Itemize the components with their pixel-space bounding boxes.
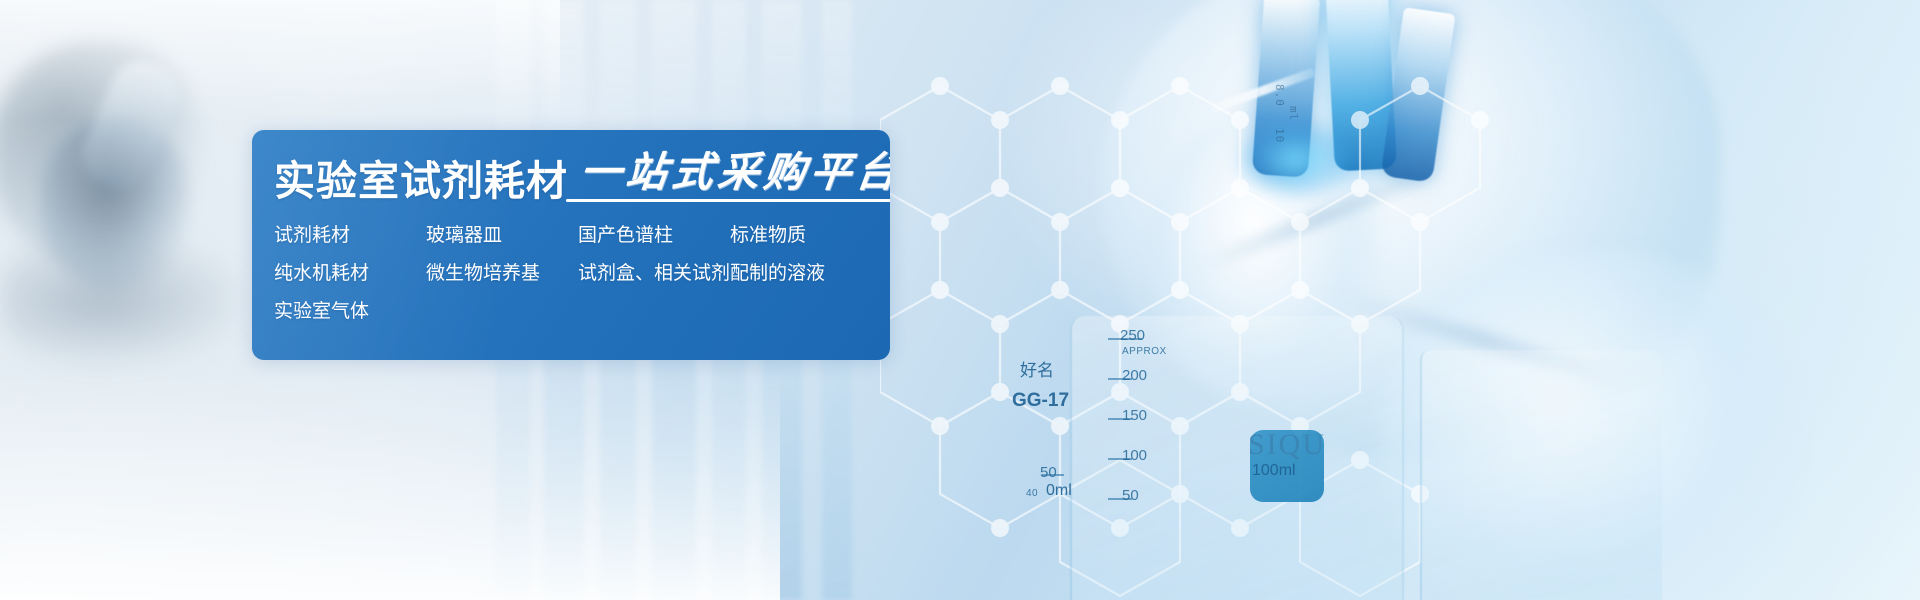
graduation-label: 50 [1040,464,1057,481]
graduation-label: 150 [1122,407,1147,424]
graduation-label-approx: APPROX [1122,346,1167,357]
headline-brush-text: 一站式采购平台 [577,152,890,193]
category-link-microbial-culture-medium[interactable]: 微生物培养基 [426,264,578,285]
graduation-label: 100 [1122,447,1147,464]
secondary-beaker-shape [1420,350,1662,600]
flask-capacity-label: 100ml [1252,462,1296,480]
background-highlight-wash [0,370,780,600]
category-link-row: 纯水机耗材 微生物培养基 试剂盒、相关试剂配制的溶液 [274,264,870,285]
headline-bold-text: 实验室试剂耗材 [274,161,568,202]
headline-brush-wrapper: 一站式采购平台 [580,152,890,202]
category-link-row: 试剂耗材 玻璃器皿 国产色谱柱 标准物质 [274,226,870,247]
category-link-row: 实验室气体 [274,302,870,323]
glassware-brand-label: 好名 [1020,356,1054,381]
headline-underline [566,199,890,202]
category-link-reagent-kit-solutions[interactable]: 试剂盒、相关试剂配制的溶液 [578,264,825,285]
category-link-water-purifier-consumables[interactable]: 纯水机耗材 [274,264,426,285]
beaker-brand-label: SIQU [1248,428,1326,462]
category-link-glassware[interactable]: 玻璃器皿 [426,226,578,247]
microscope-blur-shape [0,230,250,370]
category-link-list: 试剂耗材 玻璃器皿 国产色谱柱 标准物质 纯水机耗材 微生物培养基 试剂盒、相关… [274,226,870,323]
category-link-laboratory-gas[interactable]: 实验室气体 [274,302,426,323]
graduation-label: 250 [1120,327,1145,344]
background-highlight-wash [0,0,560,120]
promo-card: 实验室试剂耗材 一站式采购平台 试剂耗材 玻璃器皿 国产色谱柱 标准物质 纯水机… [252,130,890,360]
category-link-reference-material[interactable]: 标准物质 [730,226,870,247]
flask-capacity-label: 0ml [1046,482,1072,500]
glassware-code-label: GG-17 [1012,390,1069,412]
category-link-reagent-consumables[interactable]: 试剂耗材 [274,226,426,247]
headline: 实验室试剂耗材 一站式采购平台 [274,152,890,202]
graduation-label: 50 [1122,487,1139,504]
graduation-label: 200 [1122,367,1147,384]
graduation-label: 40 [1026,488,1038,499]
promo-banner: 8.0 ml 10 [0,0,1920,600]
category-link-domestic-chromatography-column[interactable]: 国产色谱柱 [578,226,730,247]
